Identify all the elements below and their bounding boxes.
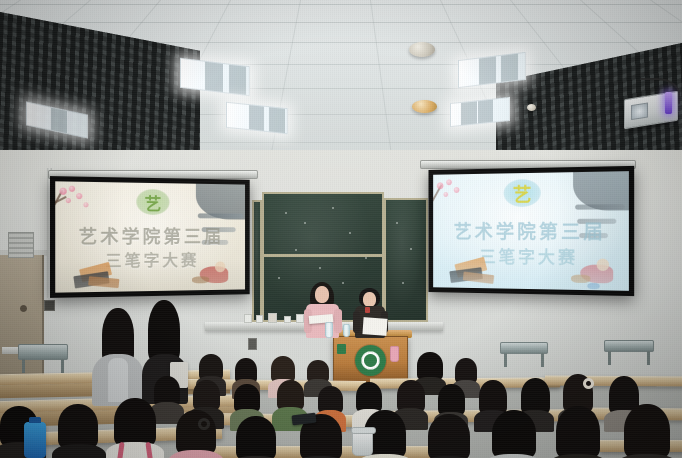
plum-blossom-icon	[454, 187, 460, 193]
roof-eave	[198, 213, 243, 218]
hair-scrunchie	[583, 378, 594, 389]
host-right-head	[363, 292, 376, 307]
plum-blossom-icon	[446, 179, 452, 185]
host-left-head	[315, 286, 329, 303]
smoke-detector-icon	[412, 100, 437, 113]
audience-member-front	[548, 406, 608, 458]
plum-blossom-icon	[66, 198, 71, 203]
plum-blossom-icon	[76, 193, 82, 199]
roof-eave	[575, 204, 625, 209]
slide-right: 艺 艺术学院第三届 三笔字大赛	[433, 171, 629, 291]
lecture-hall-photo: 艺 艺术学院第三届 三笔字大赛	[0, 0, 682, 458]
audience-member-front	[484, 410, 542, 458]
left-projection-screen[interactable]: 艺 艺术学院第三届 三笔字大赛	[50, 176, 250, 298]
slide-mist	[55, 260, 245, 292]
audience-member-front	[420, 414, 476, 458]
white-paper-cup[interactable]	[352, 430, 373, 456]
smoke-detector-icon	[527, 104, 536, 111]
blackboard-panel-left	[252, 200, 262, 322]
projector-lens-icon	[631, 102, 648, 120]
slide-left: 艺 艺术学院第三届 三笔字大赛	[55, 181, 245, 292]
plum-blossom-icon	[59, 188, 66, 195]
wall-outlet[interactable]	[44, 300, 55, 311]
projector-indicator-light	[665, 92, 672, 114]
plum-blossom-icon	[443, 192, 448, 197]
pink-bottle[interactable]	[390, 346, 399, 362]
plum-blossom-icon	[69, 186, 75, 192]
wall-vent	[8, 232, 34, 258]
audience-member-front	[168, 410, 224, 458]
hair-clip	[198, 418, 210, 430]
audience	[0, 318, 682, 458]
slide-seal-right: 艺	[504, 179, 541, 207]
right-projection-screen[interactable]: 艺 艺术学院第三届 三笔字大赛	[429, 166, 635, 296]
plum-blossom-icon	[83, 202, 88, 207]
blue-water-bottle[interactable]	[24, 422, 46, 458]
audience-member-front	[52, 404, 106, 458]
audience-member-front	[616, 404, 678, 458]
slide-title-line1-left: 艺术学院第三届	[55, 223, 245, 250]
host-right-badge	[365, 307, 370, 313]
audience-member-front	[228, 416, 284, 458]
slide-mist	[433, 256, 629, 291]
slide-title-line1-right: 艺术学院第三届	[433, 217, 629, 245]
smoke-detector-icon	[409, 42, 435, 57]
audience-member-front	[106, 398, 164, 458]
slide-seal-left: 艺	[136, 189, 170, 215]
door-knob-icon[interactable]	[20, 305, 27, 312]
blackboard-panel-right	[384, 198, 428, 322]
blackboard-divider	[262, 254, 384, 257]
plum-blossom-icon	[437, 182, 444, 189]
